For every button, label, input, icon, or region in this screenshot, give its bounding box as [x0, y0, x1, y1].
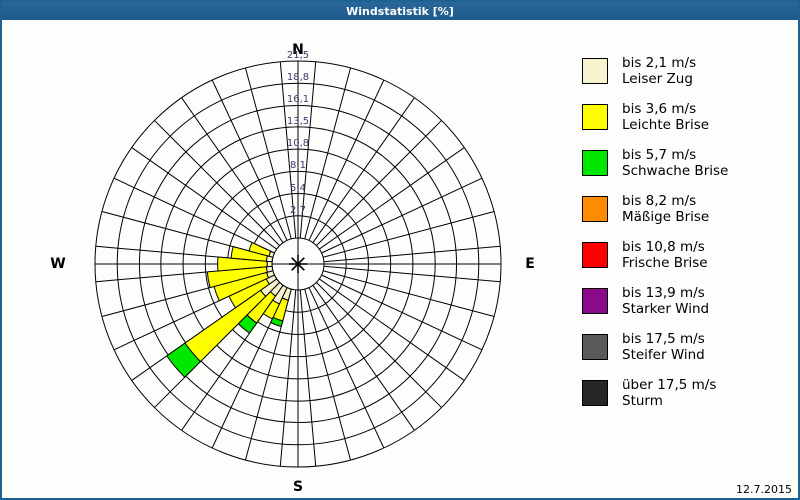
legend-label: bis 10,8 m/sFrische Brise — [622, 240, 708, 271]
legend: bis 2,1 m/sLeiser Zugbis 3,6 m/sLeichte … — [574, 38, 796, 478]
legend-color-swatch — [582, 380, 608, 406]
legend-color-swatch — [582, 58, 608, 84]
legend-color-swatch — [582, 334, 608, 360]
legend-speed-range: bis 3,6 m/s — [622, 102, 709, 118]
legend-color-swatch — [582, 196, 608, 222]
radial-tick-label: 8,1 — [275, 160, 321, 171]
legend-item[interactable]: bis 3,6 m/sLeichte Brise — [582, 102, 709, 133]
windstatistik-window: Windstatistik [%] N E S W 2,75,48,110,81… — [0, 0, 800, 500]
legend-beaufort-name: Schwache Brise — [622, 164, 728, 180]
legend-beaufort-name: Starker Wind — [622, 302, 709, 318]
radial-tick-label: 2,7 — [275, 205, 321, 216]
legend-label: bis 13,9 m/sStarker Wind — [622, 286, 709, 317]
radial-tick-label: 10,8 — [275, 138, 321, 149]
legend-speed-range: bis 2,1 m/s — [622, 56, 696, 72]
legend-label: bis 17,5 m/sSteifer Wind — [622, 332, 705, 363]
legend-beaufort-name: Frische Brise — [622, 256, 708, 272]
legend-speed-range: bis 10,8 m/s — [622, 240, 708, 256]
radial-tick-label: 13,5 — [275, 116, 321, 127]
legend-beaufort-name: Leiser Zug — [622, 72, 696, 88]
legend-label: bis 5,7 m/sSchwache Brise — [622, 148, 728, 179]
wind-rose-plot — [2, 20, 562, 498]
legend-item[interactable]: bis 8,2 m/sMäßige Brise — [582, 194, 709, 225]
compass-label-south: S — [278, 479, 318, 495]
radial-tick-label: 5,4 — [275, 183, 321, 194]
legend-speed-range: über 17,5 m/s — [622, 378, 716, 394]
window-title: Windstatistik [%] — [346, 5, 454, 18]
radial-tick-label: 18,8 — [275, 72, 321, 83]
legend-beaufort-name: Leichte Brise — [622, 118, 709, 134]
legend-item[interactable]: bis 5,7 m/sSchwache Brise — [582, 148, 728, 179]
chart-canvas: N E S W 2,75,48,110,813,516,118,821,5 bi… — [2, 20, 798, 498]
legend-speed-range: bis 8,2 m/s — [622, 194, 709, 210]
legend-label: bis 2,1 m/sLeiser Zug — [622, 56, 696, 87]
date-stamp: 12.7.2015 — [736, 483, 792, 496]
compass-label-west: W — [38, 256, 78, 272]
legend-item[interactable]: bis 17,5 m/sSteifer Wind — [582, 332, 705, 363]
legend-color-swatch — [582, 288, 608, 314]
legend-color-swatch — [582, 242, 608, 268]
legend-speed-range: bis 17,5 m/s — [622, 332, 705, 348]
legend-label: bis 3,6 m/sLeichte Brise — [622, 102, 709, 133]
window-title-bar: Windstatistik [%] — [2, 2, 798, 20]
legend-color-swatch — [582, 104, 608, 130]
legend-item[interactable]: bis 10,8 m/sFrische Brise — [582, 240, 708, 271]
compass-label-east: E — [510, 256, 550, 272]
legend-item[interactable]: bis 13,9 m/sStarker Wind — [582, 286, 709, 317]
legend-label: über 17,5 m/sSturm — [622, 378, 716, 409]
legend-color-swatch — [582, 150, 608, 176]
radial-tick-label: 21,5 — [275, 50, 321, 61]
legend-beaufort-name: Mäßige Brise — [622, 210, 709, 226]
radial-tick-label: 16,1 — [275, 94, 321, 105]
legend-label: bis 8,2 m/sMäßige Brise — [622, 194, 709, 225]
legend-item[interactable]: über 17,5 m/sSturm — [582, 378, 716, 409]
legend-speed-range: bis 13,9 m/s — [622, 286, 709, 302]
center-marker — [289, 255, 307, 273]
wind-rose: N E S W 2,75,48,110,813,516,118,821,5 — [2, 20, 562, 498]
legend-speed-range: bis 5,7 m/s — [622, 148, 728, 164]
legend-item[interactable]: bis 2,1 m/sLeiser Zug — [582, 56, 696, 87]
legend-beaufort-name: Sturm — [622, 394, 716, 410]
legend-beaufort-name: Steifer Wind — [622, 348, 705, 364]
